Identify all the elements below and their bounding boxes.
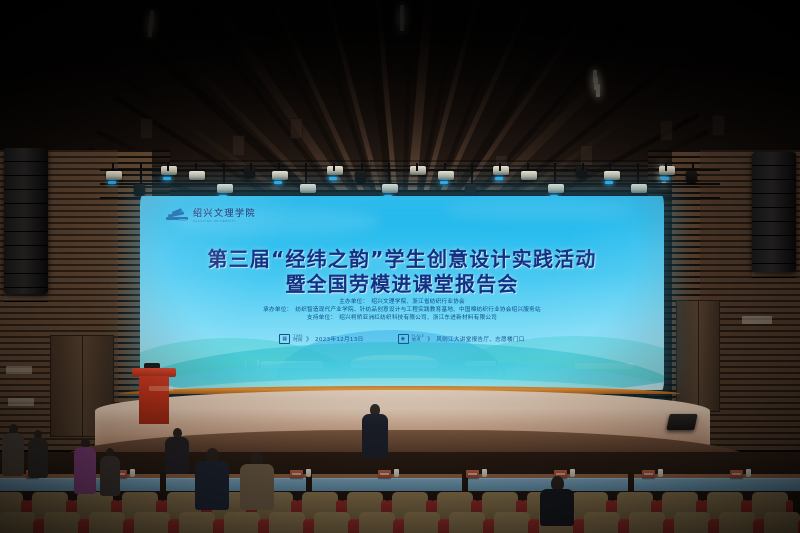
seat-back xyxy=(0,512,35,533)
meta-key-en: TIME xyxy=(293,335,303,338)
water-cup xyxy=(482,469,487,477)
seat-back xyxy=(494,512,530,533)
table-nameplate xyxy=(378,470,391,478)
organizer-value: 绍兴文理学院、浙江省纺织行业协会 xyxy=(371,299,465,305)
table-nameplate xyxy=(642,470,655,478)
head-table xyxy=(166,478,306,491)
stage-light-fixture xyxy=(217,184,233,193)
truss-hanger xyxy=(167,163,169,171)
stage-light-fixture xyxy=(686,171,697,183)
location-pin-icon: ◉ xyxy=(398,334,409,344)
stage-light-fixture xyxy=(161,166,177,175)
stage-light-fixture xyxy=(300,184,316,193)
stage-light-fixture xyxy=(521,171,537,180)
audience-seat[interactable] xyxy=(39,512,85,533)
truss-led-accent xyxy=(329,177,337,180)
audience-seat[interactable] xyxy=(714,512,760,533)
stage-light-fixture xyxy=(465,184,476,196)
organizer-label: 支持单位： xyxy=(307,315,336,321)
stage-light-fixture xyxy=(134,184,145,196)
meta-key-en: PLACE xyxy=(412,335,425,338)
truss-hanger xyxy=(333,163,335,171)
stage-light-fixture xyxy=(189,171,205,180)
truss-hanger xyxy=(554,163,556,184)
truss-hanger xyxy=(582,163,584,171)
logo-name-cn: 绍兴文理学院 xyxy=(193,210,256,219)
seat-back xyxy=(179,512,215,533)
truss-led-accent xyxy=(605,181,613,184)
truss-hanger xyxy=(361,163,363,171)
stage-light-fixture xyxy=(438,171,454,180)
organizer-row: 支持单位：绍兴柯桥亚洲红纺织科技有限公司、浙江东进新材料有限公司 xyxy=(140,314,664,322)
right-stage-door[interactable] xyxy=(676,300,720,412)
exit-sign-left-lower xyxy=(8,398,34,406)
meta-separator: 》 xyxy=(427,335,433,343)
truss-hanger xyxy=(609,163,611,171)
organizer-row: 承办单位：纺织智造现代产业学院、针纺品创意设计与工程实践教育基地、中国棉纺织行业… xyxy=(140,306,664,314)
stage-light-fixture xyxy=(548,184,564,193)
water-cup xyxy=(394,469,399,477)
organizer-value: 绍兴柯桥亚洲红纺织科技有限公司、浙江东进新材料有限公司 xyxy=(339,315,497,321)
person-body xyxy=(28,438,48,478)
truss-led-accent xyxy=(163,177,171,180)
logo-name-en: SHAOXING UNIVERSITY xyxy=(193,221,256,224)
mountain-wave-logo-icon xyxy=(166,210,188,224)
standing-person xyxy=(2,424,24,476)
water-cup xyxy=(658,469,663,477)
person-body xyxy=(2,433,24,476)
stage-light-fixture xyxy=(604,171,620,180)
standing-person-coat xyxy=(240,452,274,510)
truss-hanger xyxy=(637,163,639,184)
seat-back xyxy=(674,512,710,533)
meta-place: ◉ PLACE地点 》 风则江大讲堂报告厅、志愿楼门口 xyxy=(398,334,525,344)
person-body xyxy=(74,447,96,494)
seat-back xyxy=(584,512,620,533)
truss-hanger xyxy=(444,163,446,171)
person-body xyxy=(240,464,274,510)
meta-place-value: 风则江大讲堂报告厅、志愿楼门口 xyxy=(436,335,524,343)
truss-hanger xyxy=(112,163,114,171)
audience-seat[interactable] xyxy=(444,512,490,533)
truss-hanger xyxy=(471,163,473,184)
seat-back xyxy=(269,512,305,533)
organizer-label: 承办单位： xyxy=(263,307,292,313)
head-table xyxy=(634,478,800,491)
podium-body xyxy=(139,376,169,424)
truss-hanger xyxy=(527,163,529,171)
stage-light-fixture xyxy=(327,166,343,175)
seat-back xyxy=(134,512,170,533)
table-nameplate xyxy=(466,470,479,478)
meta-time: ▦ TIME时间 》 2023年12月13日 xyxy=(279,334,363,344)
person-body xyxy=(195,461,229,510)
audience-seat[interactable] xyxy=(399,512,445,533)
seat-back xyxy=(359,512,395,533)
table-nameplate xyxy=(290,470,303,478)
right-line-array-speaker xyxy=(752,152,796,272)
audience-seat[interactable] xyxy=(84,512,130,533)
truss-led-accent xyxy=(440,181,448,184)
left-line-array-speaker xyxy=(4,148,48,294)
auditorium-screenshot: 绍兴文理学院 SHAOXING UNIVERSITY 第三届“经纬之韵”学生创意… xyxy=(0,0,800,533)
table-nameplate xyxy=(730,470,743,478)
stage-light-fixture xyxy=(355,171,366,183)
standing-person-purple xyxy=(74,438,96,494)
truss-hanger xyxy=(278,163,280,171)
standing-person-suit xyxy=(195,448,229,510)
person-body xyxy=(165,437,189,474)
standing-person-stage-front xyxy=(362,404,388,458)
audience-seat[interactable] xyxy=(669,512,715,533)
standing-person xyxy=(165,428,189,474)
truss-hanger xyxy=(499,163,501,171)
audience-seat[interactable] xyxy=(624,512,670,533)
calendar-icon: ▦ xyxy=(279,334,290,344)
truss-hanger xyxy=(388,163,390,184)
standing-person xyxy=(28,430,48,478)
truss-hanger xyxy=(140,163,142,184)
event-title-line2: 暨全国劳模进课堂报告会 xyxy=(140,268,664,297)
water-cup xyxy=(306,469,311,477)
water-cup xyxy=(130,469,135,477)
audience-seat[interactable] xyxy=(264,512,310,533)
meta-time-value: 2023年12月13日 xyxy=(315,335,364,343)
exit-sign-left xyxy=(6,366,32,374)
truss-led-accent xyxy=(274,181,282,184)
podium[interactable] xyxy=(132,368,176,424)
stage-light-fixture xyxy=(106,171,122,180)
stage-light-fixture xyxy=(410,166,426,175)
meta-key-cn: 地点 xyxy=(412,339,425,343)
audience-seat[interactable] xyxy=(174,512,220,533)
water-cup xyxy=(746,469,751,477)
audience-seat[interactable] xyxy=(129,512,175,533)
seated-person xyxy=(540,476,574,526)
seat-back xyxy=(404,512,440,533)
meta-key-cn: 时间 xyxy=(293,339,303,343)
organizer-row: 主办单位：绍兴文理学院、浙江省纺织行业协会 xyxy=(140,298,664,306)
truss-hanger xyxy=(250,163,252,171)
seat-back xyxy=(224,512,260,533)
person-body xyxy=(540,489,574,526)
event-meta: ▦ TIME时间 》 2023年12月13日 ◉ PLACE地点 》 风则江大讲… xyxy=(140,334,664,344)
organizer-label: 主办单位： xyxy=(339,299,368,305)
truss-hanger xyxy=(416,163,418,171)
meta-separator: 》 xyxy=(306,335,312,343)
stage-monitor-speaker xyxy=(666,414,697,430)
university-logo: 绍兴文理学院 SHAOXING UNIVERSITY xyxy=(166,210,256,224)
truss-led-accent xyxy=(661,177,669,180)
podium-nameplate xyxy=(149,386,173,391)
audience-seat[interactable] xyxy=(219,512,265,533)
seat-back xyxy=(44,512,80,533)
stage-light-fixture xyxy=(272,171,288,180)
truss-bar xyxy=(100,183,720,185)
truss-led-accent xyxy=(495,177,503,180)
audience-seat[interactable] xyxy=(0,512,40,533)
seat-back xyxy=(629,512,665,533)
stage-light-fixture xyxy=(631,184,647,193)
truss-hanger xyxy=(195,163,197,171)
truss-led-accent xyxy=(108,181,116,184)
head-table xyxy=(312,478,462,491)
seat-back xyxy=(89,512,125,533)
truss-hanger xyxy=(223,163,225,184)
audience-seat[interactable] xyxy=(579,512,625,533)
organizer-block: 主办单位：绍兴文理学院、浙江省纺织行业协会 承办单位：纺织智造现代产业学院、针纺… xyxy=(140,298,664,323)
truss-hanger xyxy=(665,163,667,171)
seat-back xyxy=(764,512,800,533)
audience-seat[interactable] xyxy=(354,512,400,533)
seat-back xyxy=(314,512,350,533)
standing-person xyxy=(100,448,120,496)
person-body xyxy=(362,414,388,458)
audience-seat[interactable] xyxy=(489,512,535,533)
truss-hanger xyxy=(305,163,307,184)
audience-seat[interactable] xyxy=(759,512,800,533)
truss-hanger xyxy=(692,163,694,171)
exit-sign-right xyxy=(742,316,772,324)
organizer-value: 纺织智造现代产业学院、针纺品创意设计与工程实践教育基地、中国棉纺织行业协会绍兴服… xyxy=(295,307,540,313)
person-body xyxy=(100,456,120,496)
stage-light-fixture xyxy=(382,184,398,193)
seat-back xyxy=(449,512,485,533)
seat-back xyxy=(719,512,755,533)
audience-seat[interactable] xyxy=(309,512,355,533)
led-screen: 绍兴文理学院 SHAOXING UNIVERSITY 第三届“经纬之韵”学生创意… xyxy=(140,196,664,390)
